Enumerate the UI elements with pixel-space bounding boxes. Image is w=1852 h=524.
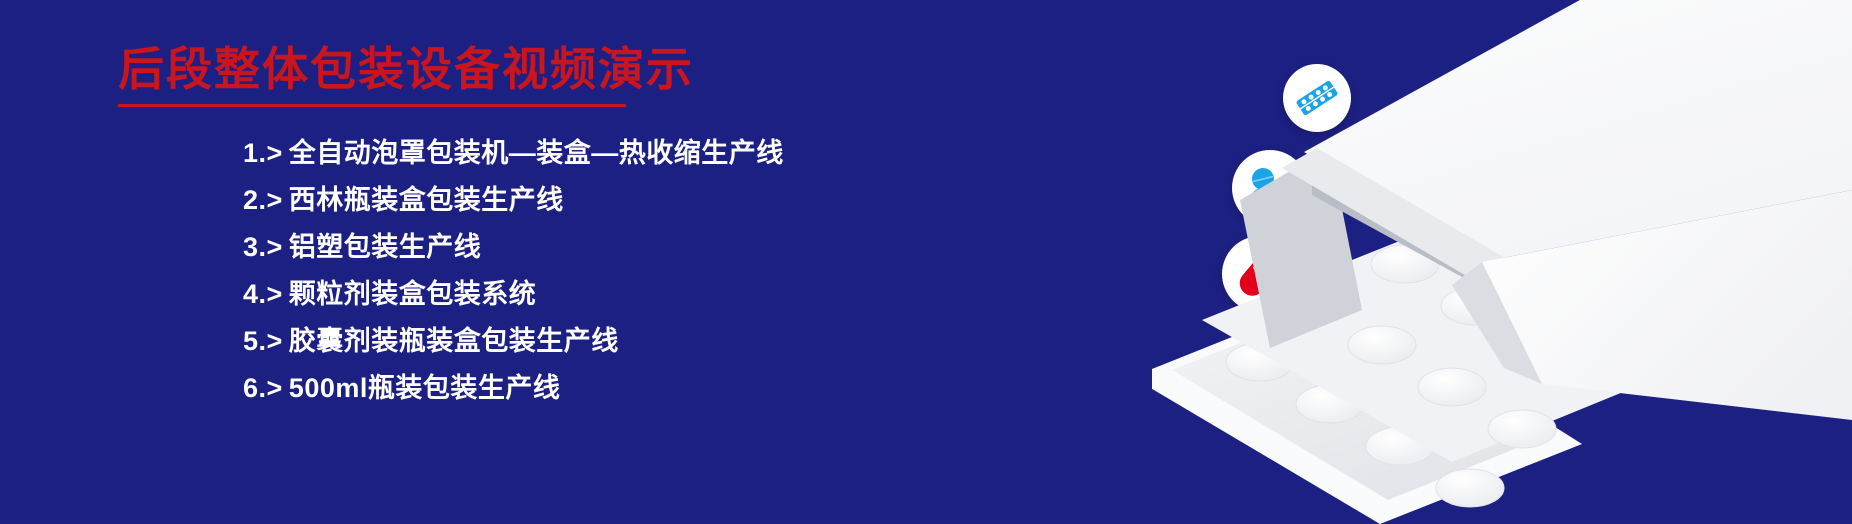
list-item[interactable]: 5.>胶囊剂装瓶装盒包装生产线 xyxy=(243,318,784,365)
list-item-label: 全自动泡罩包装机—装盒—热收缩生产线 xyxy=(289,138,784,168)
page-title: 后段整体包装设备视频演示 xyxy=(118,42,694,97)
promo-banner: 后段整体包装设备视频演示 1.>全自动泡罩包装机—装盒—热收缩生产线 2.>西林… xyxy=(0,0,1852,524)
capsule-icon xyxy=(1222,236,1298,312)
title-underline-divider xyxy=(118,104,626,107)
list-item-label: 西林瓶装盒包装生产线 xyxy=(289,185,564,215)
list-item-label: 500ml瓶装包装生产线 xyxy=(289,373,561,403)
blister-pack-icon xyxy=(1283,64,1351,132)
list-item-label: 胶囊剂装瓶装盒包装生产线 xyxy=(289,326,619,356)
list-item-index: 5.> xyxy=(243,318,283,365)
badge-capsule xyxy=(1222,236,1298,312)
text-block: 后段整体包装设备视频演示 1.>全自动泡罩包装机—装盒—热收缩生产线 2.>西林… xyxy=(0,0,1050,524)
list-item-label: 颗粒剂装盒包装系统 xyxy=(289,279,537,309)
list-item-index: 2.> xyxy=(243,177,283,224)
badge-pill-bottle xyxy=(1264,323,1340,399)
list-item-label: 铝塑包装生产线 xyxy=(289,232,482,262)
blister-tray-front xyxy=(1152,293,1582,524)
feature-list: 1.>全自动泡罩包装机—装盒—热收缩生产线 2.>西林瓶装盒包装生产线 3.>铝… xyxy=(243,130,784,412)
pill-bottle-icon xyxy=(1264,323,1340,399)
list-item[interactable]: 2.>西林瓶装盒包装生产线 xyxy=(243,177,784,224)
tablets-icon xyxy=(1232,150,1308,226)
badge-tablets xyxy=(1232,150,1308,226)
list-item[interactable]: 6.>500ml瓶装包装生产线 xyxy=(243,365,784,412)
list-item[interactable]: 4.>颗粒剂装盒包装系统 xyxy=(243,271,784,318)
list-item[interactable]: 1.>全自动泡罩包装机—装盒—热收缩生产线 xyxy=(243,130,784,177)
list-item[interactable]: 3.>铝塑包装生产线 xyxy=(243,224,784,271)
list-item-index: 6.> xyxy=(243,365,283,412)
badge-blister-pack xyxy=(1283,64,1351,132)
list-item-index: 4.> xyxy=(243,271,283,318)
list-item-index: 1.> xyxy=(243,130,283,177)
list-item-index: 3.> xyxy=(243,224,283,271)
